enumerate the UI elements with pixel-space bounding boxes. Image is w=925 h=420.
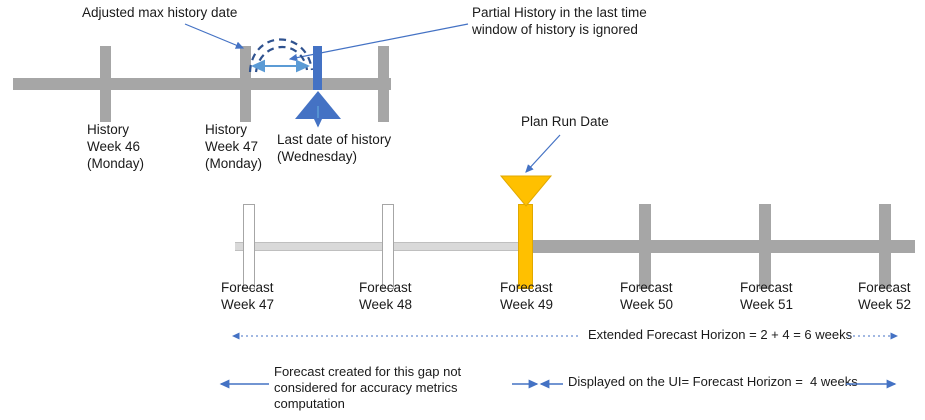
forecast-week-51-label: ForecastWeek 51 bbox=[740, 279, 793, 313]
last-date-of-history-marker bbox=[313, 46, 322, 90]
history-week-47-tick bbox=[240, 46, 251, 122]
gap-note-line2: considered for accuracy metrics bbox=[274, 380, 458, 395]
diagram-canvas: HistoryWeek 46(Monday) HistoryWeek 47(Mo… bbox=[0, 0, 925, 420]
adjusted-max-history-date-text: Adjusted max history date bbox=[82, 5, 237, 20]
forecast-week-47-label-line2: Week 47 bbox=[221, 297, 274, 312]
gap-note-line3: computation bbox=[274, 396, 345, 411]
plan-run-date-leader-arrow bbox=[526, 135, 560, 172]
forecast-week-51-tick bbox=[759, 204, 771, 289]
history-week-46-label: HistoryWeek 46(Monday) bbox=[87, 121, 144, 172]
history-week-47-label-line3: (Monday) bbox=[205, 156, 262, 171]
last-date-of-history-triangle-icon bbox=[295, 91, 341, 119]
adjusted-max-history-date-label: Adjusted max history date bbox=[82, 4, 237, 21]
forecast-week-49-label-line2: Week 49 bbox=[500, 297, 553, 312]
plan-run-date-triangle-icon bbox=[501, 176, 551, 206]
forecast-week-50-label: ForecastWeek 50 bbox=[620, 279, 673, 313]
partial-history-line1: Partial History in the last time bbox=[472, 5, 647, 20]
history-week-47-label: HistoryWeek 47(Monday) bbox=[205, 121, 262, 172]
forecast-week-49-label: ForecastWeek 49 bbox=[500, 279, 553, 313]
forecast-axis-line bbox=[525, 240, 915, 253]
last-date-of-history-line1: Last date of history bbox=[277, 132, 391, 147]
dashed-arc-outer-icon bbox=[250, 39, 312, 72]
forecast-week-47-tick bbox=[243, 204, 255, 289]
forecast-week-49-label-line1: Forecast bbox=[500, 280, 553, 295]
forecast-week-48-label: ForecastWeek 48 bbox=[359, 279, 412, 313]
displayed-on-ui-label: Displayed on the UI= Forecast Horizon = … bbox=[568, 374, 858, 390]
partial-history-label: Partial History in the last timewindow o… bbox=[472, 4, 647, 38]
forecast-week-50-tick bbox=[639, 204, 651, 289]
forecast-week-48-label-line2: Week 48 bbox=[359, 297, 412, 312]
last-date-of-history-line2: (Wednesday) bbox=[277, 149, 357, 164]
extended-forecast-horizon-text: Extended Forecast Horizon = 2 + 4 = 6 we… bbox=[588, 327, 852, 342]
forecast-week-51-label-line1: Forecast bbox=[740, 280, 793, 295]
history-axis-line bbox=[13, 78, 391, 90]
history-week-47-label-line2: Week 47 bbox=[205, 139, 258, 154]
history-week-47-label-line1: History bbox=[205, 122, 247, 137]
gap-note-line1: Forecast created for this gap not bbox=[274, 364, 461, 379]
history-axis-end-tick bbox=[378, 46, 389, 122]
dashed-arc-inner-icon bbox=[256, 47, 307, 72]
forecast-week-52-tick bbox=[879, 204, 891, 289]
forecast-week-48-tick bbox=[382, 204, 394, 289]
forecast-week-50-label-line1: Forecast bbox=[620, 280, 673, 295]
last-date-of-history-label: Last date of history(Wednesday) bbox=[277, 131, 391, 165]
extended-forecast-horizon-label: Extended Forecast Horizon = 2 + 4 = 6 we… bbox=[588, 327, 852, 343]
forecast-week-52-label-line1: Forecast bbox=[858, 280, 911, 295]
forecast-week-52-label-line2: Week 52 bbox=[858, 297, 911, 312]
annotation-overlay bbox=[0, 0, 925, 420]
adjusted-max-history-leader-arrow bbox=[185, 24, 243, 48]
forecast-week-50-label-line2: Week 50 bbox=[620, 297, 673, 312]
history-week-46-label-line3: (Monday) bbox=[87, 156, 144, 171]
history-week-46-tick bbox=[100, 46, 111, 122]
gap-note-label: Forecast created for this gap notconside… bbox=[274, 364, 461, 412]
forecast-week-47-label: ForecastWeek 47 bbox=[221, 279, 274, 313]
forecast-week-52-label: ForecastWeek 52 bbox=[858, 279, 911, 313]
forecast-week-47-label-line1: Forecast bbox=[221, 280, 274, 295]
forecast-week-48-label-line1: Forecast bbox=[359, 280, 412, 295]
history-week-46-label-line2: Week 46 bbox=[87, 139, 140, 154]
forecast-week-49-tick bbox=[518, 204, 533, 289]
forecast-week-51-label-line2: Week 51 bbox=[740, 297, 793, 312]
partial-history-line2: window of history is ignored bbox=[472, 22, 638, 37]
plan-run-date-text: Plan Run Date bbox=[521, 114, 609, 129]
displayed-on-ui-text: Displayed on the UI= Forecast Horizon = … bbox=[568, 374, 858, 389]
history-week-46-label-line1: History bbox=[87, 122, 129, 137]
plan-run-date-label: Plan Run Date bbox=[521, 113, 609, 130]
